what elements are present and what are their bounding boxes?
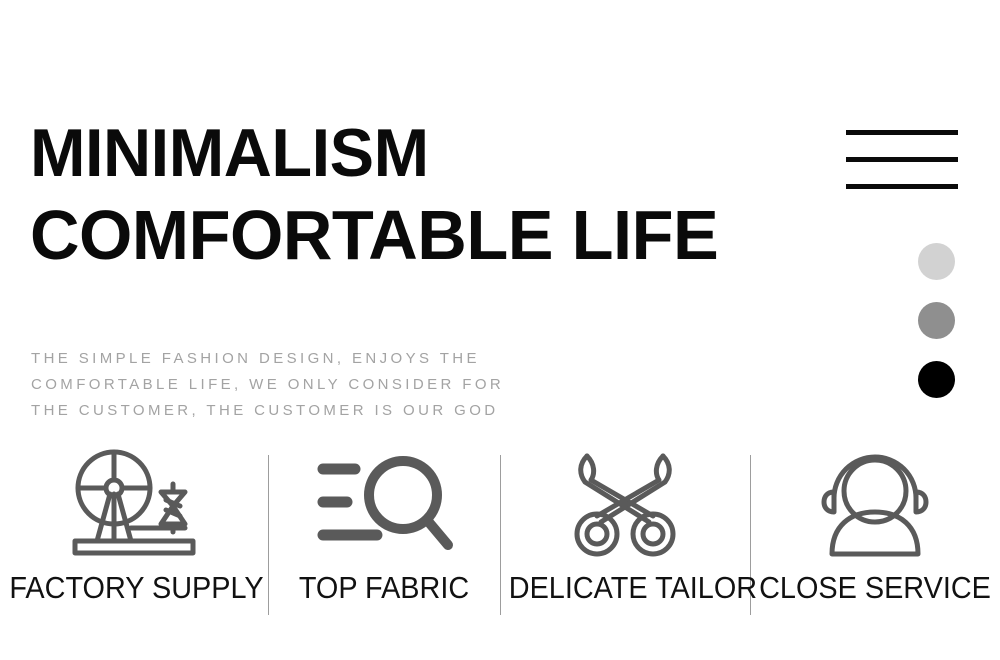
hamburger-bar-2 [846, 157, 958, 162]
headset-person-icon [750, 448, 1000, 556]
magnifier-list-icon [268, 448, 500, 556]
hamburger-menu-icon[interactable] [846, 130, 958, 192]
carousel-dot-2[interactable] [918, 302, 955, 339]
subcopy-line-2: COMFORTABLE LIFE, WE ONLY CONSIDER FOR [31, 372, 671, 398]
feature-label-4: CLOSE SERVICE [759, 570, 992, 606]
headline-line-2: COMFORTABLE LIFE [30, 194, 775, 276]
feature-label-2: TOP FABRIC [276, 570, 492, 606]
promo-banner: MINIMALISM COMFORTABLE LIFE THE SIMPLE F… [0, 0, 1000, 660]
scissors-icon [500, 448, 750, 556]
feature-row: FACTORY SUPPLY TOP FABRIC [0, 440, 1000, 630]
feature-item-delicate-tailor[interactable]: DELICATE TAILOR [500, 440, 750, 630]
page-title: MINIMALISM COMFORTABLE LIFE [30, 112, 790, 276]
feature-label-1: FACTORY SUPPLY [9, 570, 258, 606]
feature-label-3: DELICATE TAILOR [509, 570, 742, 606]
carousel-dot-1[interactable] [918, 243, 955, 280]
subcopy-line-1: THE SIMPLE FASHION DESIGN, ENJOYS THE [31, 346, 671, 372]
headline-line-1: MINIMALISM [30, 112, 775, 194]
carousel-dot-3[interactable] [918, 361, 955, 398]
hamburger-bar-1 [846, 130, 958, 135]
subcopy-line-3: THE CUSTOMER, THE CUSTOMER IS OUR GOD [31, 398, 671, 424]
subcopy-block: THE SIMPLE FASHION DESIGN, ENJOYS THE CO… [31, 346, 671, 424]
feature-item-factory-supply[interactable]: FACTORY SUPPLY [0, 440, 268, 630]
feature-item-close-service[interactable]: CLOSE SERVICE [750, 440, 1000, 630]
spinning-wheel-icon [0, 448, 268, 556]
hamburger-bar-3 [846, 184, 958, 189]
feature-item-top-fabric[interactable]: TOP FABRIC [268, 440, 500, 630]
